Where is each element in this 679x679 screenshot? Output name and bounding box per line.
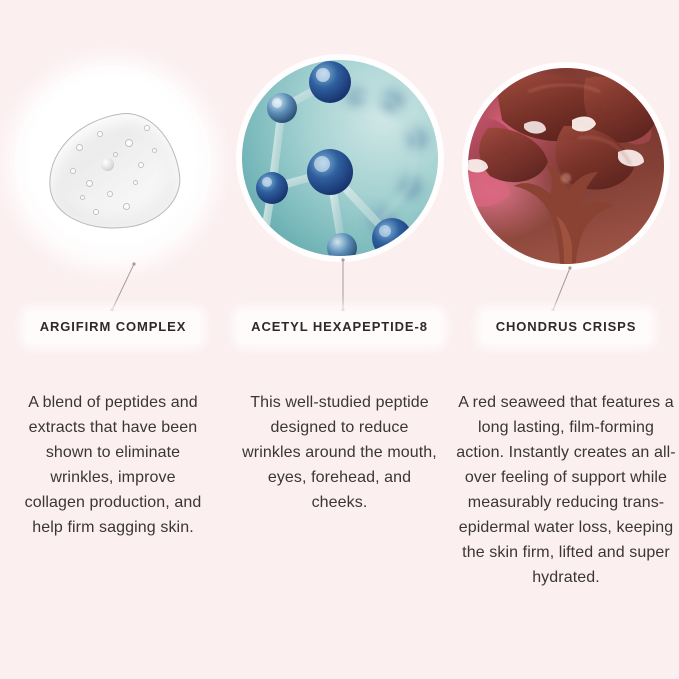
ingredient-column-chondrus-crisps: CHONDRUS CRISPS A red seaweed that featu… (453, 0, 679, 679)
red-seaweed-photo (468, 68, 664, 264)
gel-bubble (97, 131, 103, 137)
media-wrap-argifirm-complex (15, 66, 211, 262)
ingredient-column-argifirm-complex: ARGIFIRM COMPLEX A blend of peptides and… (0, 0, 226, 679)
ingredient-label-pill-acetyl-hexapeptide-8: ACETYL HEXAPEPTIDE-8 (237, 311, 442, 344)
gel-bubble (125, 139, 133, 147)
ingredient-label-text: CHONDRUS CRISPS (496, 319, 637, 334)
ingredient-label-pill-chondrus-crisps: CHONDRUS CRISPS (482, 311, 651, 344)
ingredient-columns: ARGIFIRM COMPLEX A blend of peptides and… (0, 0, 679, 679)
seaweed-fronds-graphic (468, 68, 664, 264)
ingredient-label-pill-argifirm-complex: ARGIFIRM COMPLEX (26, 311, 201, 344)
media-wrap-acetyl-hexapeptide-8 (242, 60, 438, 256)
ingredient-column-acetyl-hexapeptide-8: ACETYL HEXAPEPTIDE-8 This well-studied p… (227, 0, 453, 679)
gel-bubble (133, 180, 138, 185)
connector-line-acetyl-hexapeptide-8 (337, 258, 349, 314)
molecule-model-photo (242, 60, 438, 256)
gel-bubble (123, 203, 130, 210)
ingredient-label-text: ARGIFIRM COMPLEX (40, 319, 187, 334)
gel-bubble (70, 168, 76, 174)
ingredient-infographic: ARGIFIRM COMPLEX A blend of peptides and… (0, 0, 679, 679)
ingredient-description-argifirm-complex: A blend of peptides and extracts that ha… (24, 390, 202, 540)
ingredient-description-acetyl-hexapeptide-8: This well-studied peptide designed to re… (240, 390, 440, 515)
gel-droplet-photo (15, 66, 211, 262)
media-wrap-chondrus-crisps (468, 68, 664, 264)
ingredient-label-text: ACETYL HEXAPEPTIDE-8 (251, 319, 428, 334)
connector-line-chondrus-crisps (539, 266, 579, 314)
gel-bubble (86, 180, 93, 187)
molecule-structure-graphic (242, 60, 438, 256)
ingredient-description-chondrus-crisps: A red seaweed that features a long lasti… (455, 390, 677, 590)
connector-line-argifirm-complex (98, 262, 148, 314)
